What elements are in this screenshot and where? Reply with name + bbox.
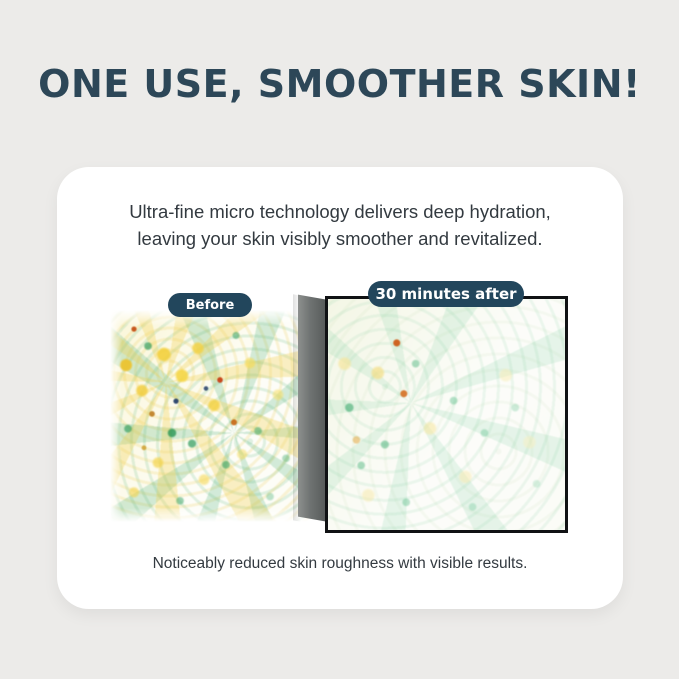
content-card: Ultra-fine micro technology delivers dee… (57, 167, 623, 609)
panel-3d-edge (298, 295, 325, 522)
after-skin-texture (328, 299, 565, 530)
before-fade-left (110, 310, 122, 522)
before-image (110, 310, 310, 522)
after-image (325, 296, 568, 533)
promo-page: ONE USE, SMOOTHER SKIN! Ultra-fine micro… (0, 0, 679, 679)
before-skin-texture (110, 310, 310, 522)
before-fade-bottom (110, 508, 310, 522)
subtitle: Ultra-fine micro technology delivers dee… (57, 198, 623, 252)
before-badge: Before (168, 293, 252, 317)
subtitle-line-1: Ultra-fine micro technology delivers dee… (57, 198, 623, 225)
comparison-caption: Noticeably reduced skin roughness with v… (57, 555, 623, 573)
before-after-comparison: Before 30 minutes after (57, 277, 623, 537)
after-badge: 30 minutes after (368, 281, 524, 307)
subtitle-line-2: leaving your skin visibly smoother and r… (57, 225, 623, 252)
page-title: ONE USE, SMOOTHER SKIN! (0, 62, 679, 106)
